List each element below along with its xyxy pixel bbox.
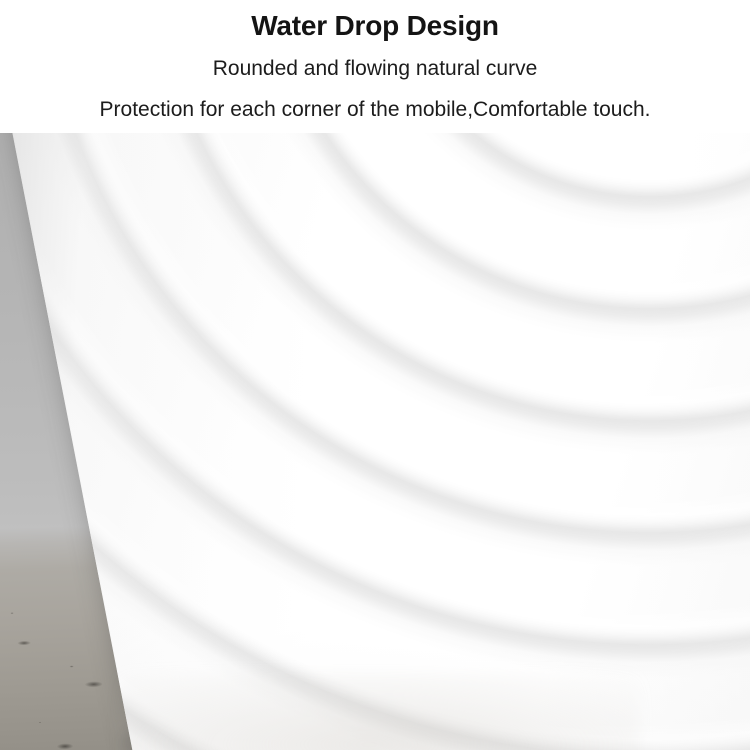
subtitle-line-1: Rounded and flowing natural curve: [0, 58, 750, 80]
page-title: Water Drop Design: [0, 11, 750, 40]
subtitle-line-2: Protection for each corner of the mobile…: [0, 99, 750, 121]
header-text-block: Water Drop Design Rounded and flowing na…: [0, 0, 750, 133]
product-detail-image: Water Drop Design Rounded and flowing na…: [0, 0, 750, 750]
product-photo: [0, 133, 750, 750]
